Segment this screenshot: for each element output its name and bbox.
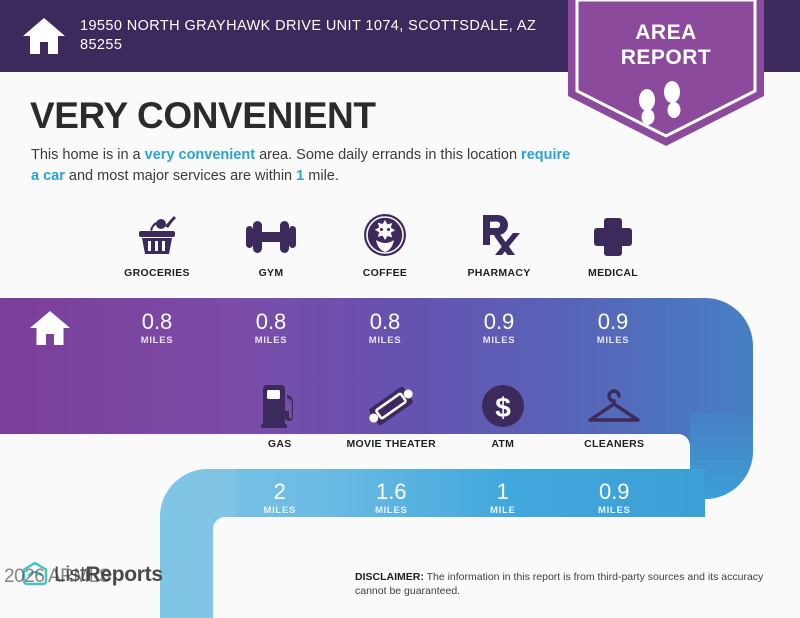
service-label: GROCERIES [124, 267, 190, 279]
summary-text: This home is in a very convenient area. … [31, 145, 571, 187]
svg-text:$: $ [495, 392, 511, 423]
service-atm: $ ATM [447, 383, 559, 450]
subject-home-marker [0, 298, 100, 358]
listreports-house-icon [22, 562, 48, 588]
service-label: PHARMACY [467, 267, 530, 279]
service-cleaners: CLEANERS [559, 383, 671, 450]
service-label: GAS [268, 438, 292, 450]
logo-text-bold: Reports [85, 563, 162, 586]
distance-value: 0.8 [370, 310, 401, 334]
service-label: COFFEE [363, 267, 407, 279]
distance-cell-atm: 1 MILE [447, 469, 559, 527]
summary-part-1: This home is in a [31, 147, 145, 163]
listreports-logo: ListReports [22, 562, 163, 588]
service-gym: GYM [214, 212, 328, 279]
home-icon [22, 16, 66, 56]
distance-value: 0.9 [484, 310, 515, 334]
service-gas: GAS [224, 383, 336, 450]
distance-value: 1 [497, 480, 509, 504]
atm-dollar-icon: $ [480, 383, 526, 429]
service-coffee: COFFEE [328, 212, 442, 279]
service-groceries: GROCERIES [100, 212, 214, 279]
medical-cross-icon [592, 212, 634, 258]
distance-unit: MILE [490, 505, 516, 516]
grocery-basket-icon [134, 212, 180, 258]
summary-highlight-1: very convenient [145, 147, 255, 163]
distance-unit: MILES [263, 505, 296, 516]
area-report-page: 19550 NORTH GRAYHAWK DRIVE UNIT 1074, SC… [0, 0, 800, 618]
service-label: ATM [491, 438, 514, 450]
disclaimer: DISCLAIMER: The information in this repo… [355, 570, 785, 598]
distance-cell-coffee: 0.8 MILES [328, 298, 442, 358]
area-report-badge: AREA REPORT [568, 0, 764, 146]
distance-cell-gym: 0.8 MILES [214, 298, 328, 358]
service-label: CLEANERS [584, 438, 644, 450]
movie-ticket-icon [367, 383, 415, 429]
rx-icon [478, 212, 520, 258]
distance-cell-pharmacy: 0.9 MILES [442, 298, 556, 358]
distance-cell-gas: 2 MILES [224, 469, 336, 527]
services-row-1: GROCERIES GYM [100, 212, 670, 279]
distance-values-row-2: 2 MILES 1.6 MILES 1 MILE 0.9 MILES [224, 469, 670, 527]
summary-part-4: mile. [304, 168, 339, 184]
summary-part-3: and most major services are within [65, 168, 296, 184]
service-pharmacy: PHARMACY [442, 212, 556, 279]
distance-value: 2 [274, 480, 286, 504]
distance-value: 0.8 [256, 310, 287, 334]
distance-unit: MILES [483, 335, 516, 346]
distance-value: 0.9 [599, 480, 630, 504]
dumbbell-icon [245, 212, 297, 258]
hanger-icon [586, 383, 642, 429]
distance-values-row-1: 0.8 MILES 0.8 MILES 0.8 MILES 0.9 MILES … [100, 298, 670, 358]
gas-pump-icon [259, 383, 301, 429]
service-label: GYM [259, 267, 284, 279]
distance-cell-groceries: 0.8 MILES [100, 298, 214, 358]
service-medical: MEDICAL [556, 212, 670, 279]
service-label: MOVIE THEATER [347, 438, 436, 450]
logo-text-light: List [54, 563, 85, 586]
distance-value: 0.8 [142, 310, 173, 334]
property-address: 19550 NORTH GRAYHAWK DRIVE UNIT 1074, SC… [80, 17, 550, 55]
distance-unit: MILES [141, 335, 174, 346]
distance-cell-movie-theater: 1.6 MILES [336, 469, 448, 527]
service-label: MEDICAL [588, 267, 638, 279]
listreports-wordmark: ListReports [54, 563, 163, 587]
home-icon [29, 309, 71, 347]
services-row-2: GAS MOVIE THEATER $ [224, 383, 670, 450]
disclaimer-label: DISCLAIMER: [355, 571, 424, 583]
distance-unit: MILES [369, 335, 402, 346]
distance-unit: MILES [598, 505, 631, 516]
page-title: VERY CONVENIENT [30, 95, 376, 137]
distance-value: 0.9 [598, 310, 629, 334]
distance-unit: MILES [597, 335, 630, 346]
summary-part-2: area. Some daily errands in this locatio… [255, 147, 521, 163]
distance-cell-medical: 0.9 MILES [556, 298, 670, 358]
distance-unit: MILES [375, 505, 408, 516]
distance-cell-cleaners: 0.9 MILES [559, 469, 671, 527]
distance-unit: MILES [255, 335, 288, 346]
service-movie-theater: MOVIE THEATER [336, 383, 448, 450]
starbucks-siren-icon [362, 212, 408, 258]
distance-value: 1.6 [376, 480, 407, 504]
